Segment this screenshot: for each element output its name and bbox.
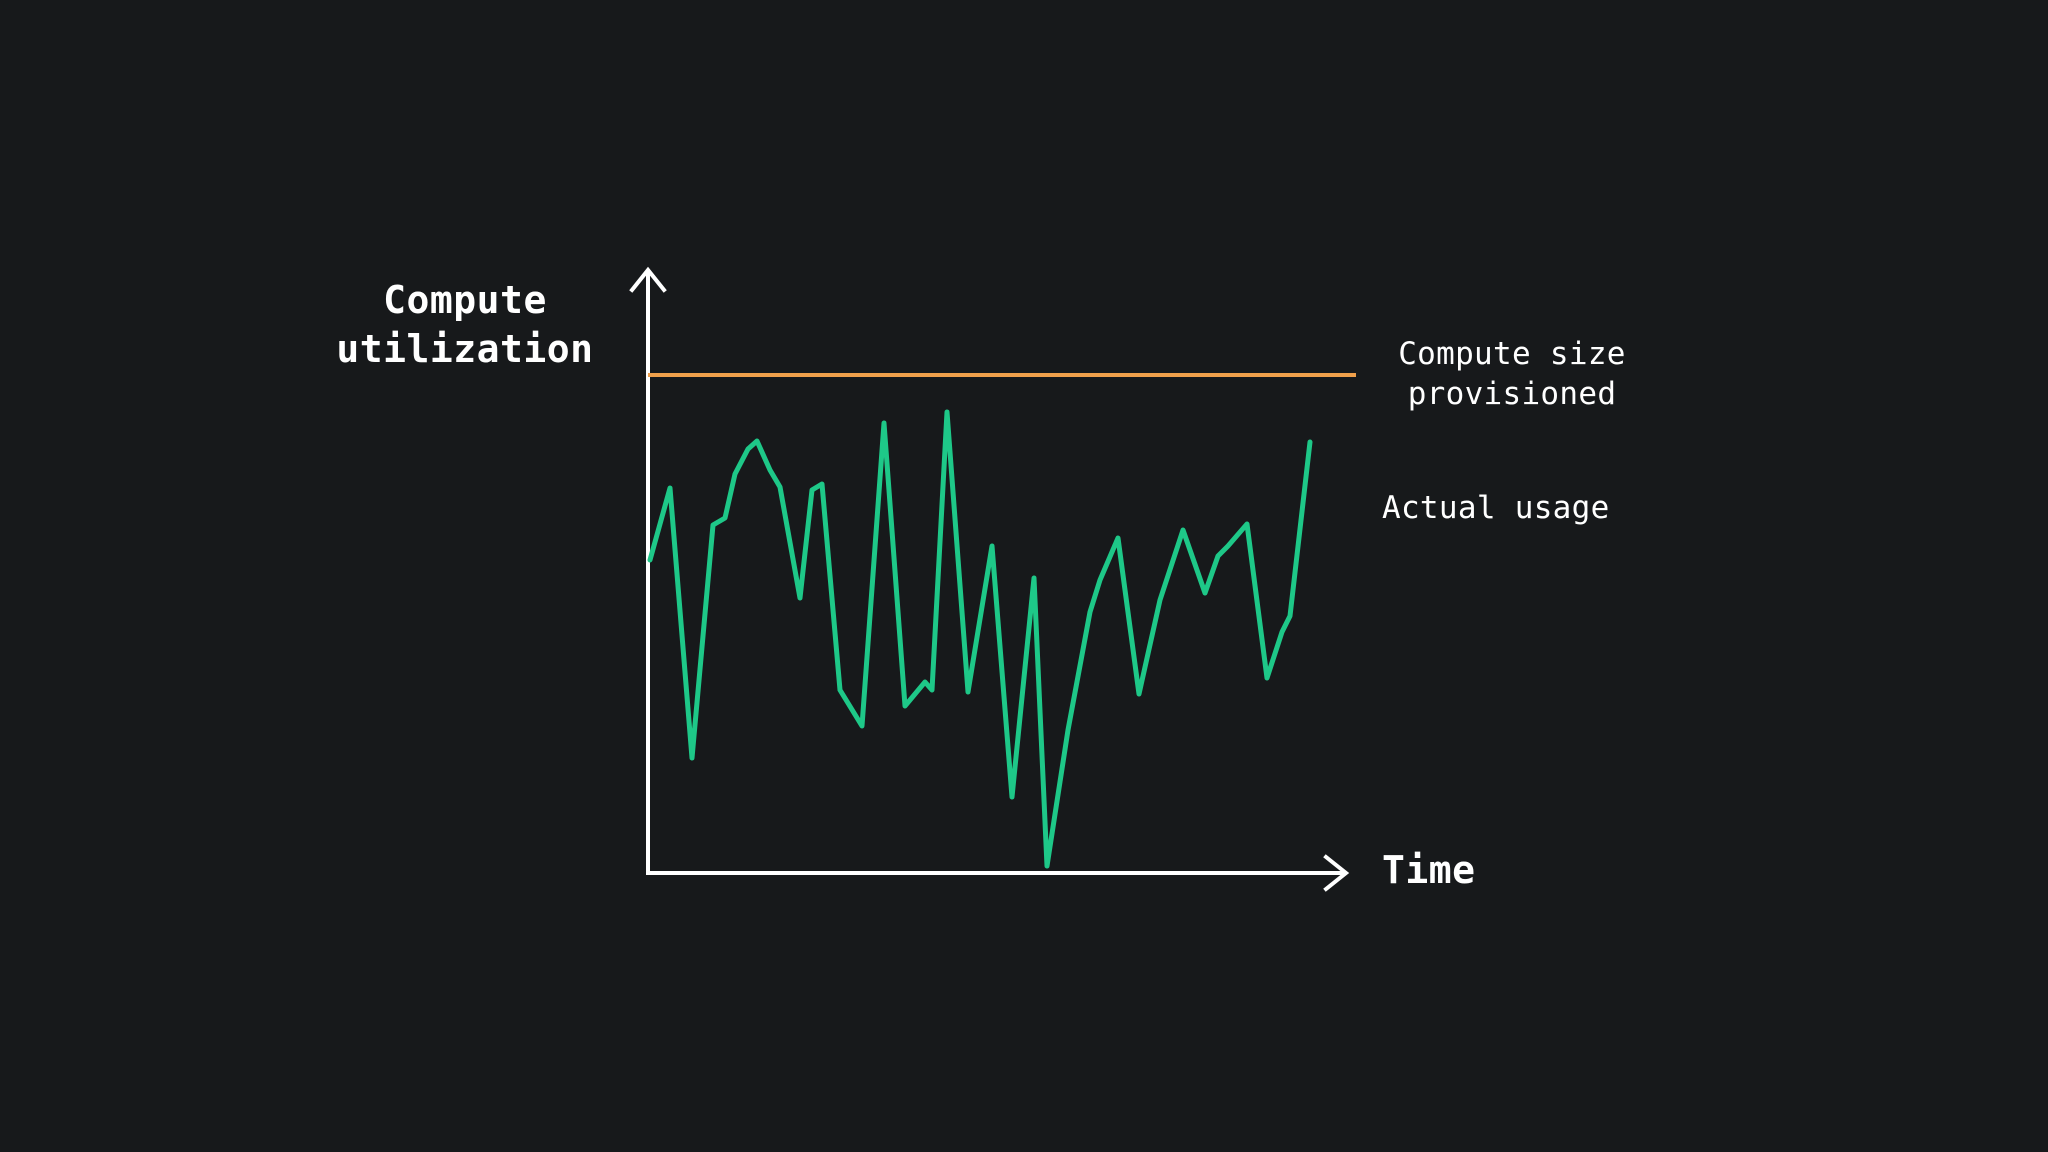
chart-canvas: Computeutilization Time Compute sizeprov…	[0, 0, 2048, 1152]
legend-provisioned-line1: Compute size	[1398, 336, 1626, 372]
legend-label-provisioned: Compute sizeprovisioned	[1382, 334, 1642, 415]
y-axis-title: Computeutilization	[300, 276, 630, 375]
y-axis-title-line2: utilization	[336, 327, 593, 371]
actual-usage-line	[650, 412, 1310, 866]
x-axis-title: Time	[1382, 846, 1476, 895]
chart-graphic	[0, 0, 2048, 1152]
y-axis-title-line1: Compute	[383, 278, 547, 322]
legend-provisioned-line2: provisioned	[1408, 376, 1617, 412]
legend-label-actual-usage: Actual usage	[1382, 488, 1610, 528]
